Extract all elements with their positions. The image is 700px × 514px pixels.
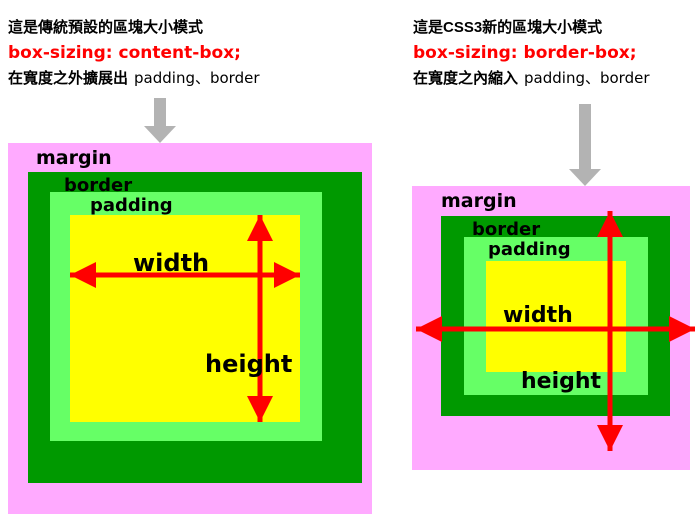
arrow-head-left bbox=[416, 316, 442, 342]
arrow-head-right bbox=[669, 316, 695, 342]
left-width-label: width bbox=[133, 249, 209, 277]
left-margin-label: margin bbox=[36, 147, 112, 169]
arrow-head bbox=[144, 126, 176, 143]
right-caption-block: 這是CSS3新的區塊大小模式 box-sizing: border-box; 在… bbox=[413, 16, 650, 91]
right-caption-line-3-cjk: 在寬度之內縮入 bbox=[413, 70, 518, 87]
right-caption-line-3-ascii: padding、border bbox=[518, 69, 649, 87]
right-margin-label: margin bbox=[441, 190, 517, 212]
arrow-shaft bbox=[154, 98, 166, 126]
box-sizing-infographic: { "left": { "caption": { "line1": "這是傳統預… bbox=[0, 0, 700, 514]
right-caption-code: box-sizing: border-box; bbox=[413, 40, 650, 66]
right-width-label: width bbox=[503, 303, 573, 328]
arrow-head bbox=[569, 169, 601, 186]
right-padding-label: padding bbox=[488, 239, 571, 260]
right-caption-line-3: 在寬度之內縮入padding、border bbox=[413, 66, 650, 91]
arrow-head-top bbox=[247, 215, 273, 241]
arrow-head-top bbox=[597, 211, 623, 237]
left-caption-line-3-ascii: padding、border bbox=[128, 69, 259, 87]
left-flow-down-arrow-icon bbox=[144, 98, 176, 143]
arrow-bar bbox=[258, 215, 263, 422]
right-height-arrow-icon bbox=[597, 211, 623, 451]
left-height-arrow-icon bbox=[247, 215, 273, 422]
left-caption-line-1: 這是傳統預設的區塊大小模式 bbox=[8, 16, 260, 40]
left-caption-line-3-cjk: 在寬度之外擴展出 bbox=[8, 70, 128, 87]
left-caption-line-3: 在寬度之外擴展出padding、border bbox=[8, 66, 260, 91]
left-border-box: border padding bbox=[28, 172, 362, 483]
arrow-head-right bbox=[274, 262, 300, 288]
left-caption-block: 這是傳統預設的區塊大小模式 box-sizing: content-box; 在… bbox=[8, 16, 260, 91]
right-height-label: height bbox=[521, 369, 601, 394]
arrow-head-bottom bbox=[247, 396, 273, 422]
arrow-shaft bbox=[579, 104, 591, 169]
left-padding-label: padding bbox=[90, 195, 173, 216]
arrow-bar bbox=[608, 211, 613, 451]
left-caption-code: box-sizing: content-box; bbox=[8, 40, 260, 66]
left-height-label: height bbox=[205, 350, 292, 378]
arrow-head-left bbox=[70, 262, 96, 288]
arrow-head-bottom bbox=[597, 425, 623, 451]
right-caption-line-1: 這是CSS3新的區塊大小模式 bbox=[413, 16, 650, 40]
left-margin-box: margin border padding bbox=[8, 143, 372, 514]
right-flow-down-arrow-icon bbox=[569, 104, 601, 186]
left-padding-box: padding bbox=[50, 192, 322, 441]
